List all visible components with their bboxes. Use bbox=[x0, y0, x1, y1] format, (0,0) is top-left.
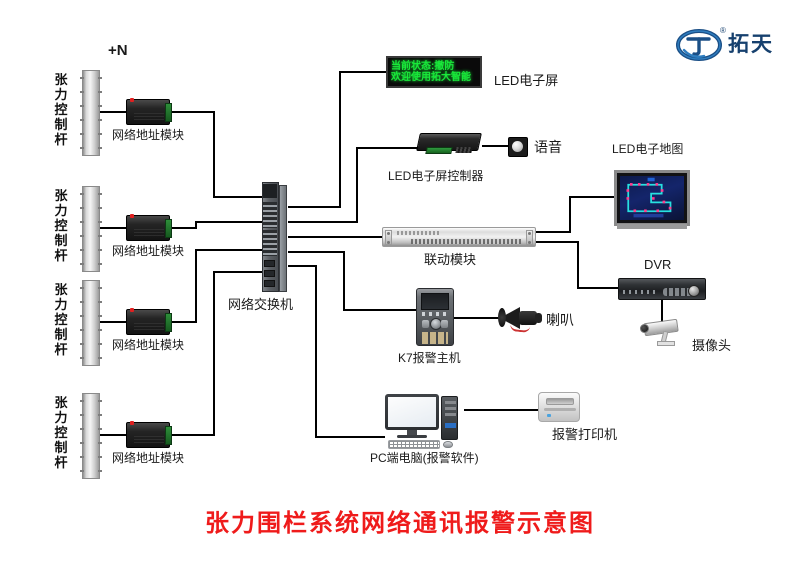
alarm-keypad-icon bbox=[416, 288, 454, 346]
dvr-icon bbox=[618, 278, 706, 300]
led-line-1: 当前状态:撤防 bbox=[391, 61, 454, 72]
pole-label-1: 张力控制杆 bbox=[54, 72, 68, 147]
diagram-canvas: ® 拓天 +N 张力控制杆 网络地址模块 张力控制杆 网络地址模块 bbox=[0, 0, 800, 579]
module-label-1: 网络地址模块 bbox=[112, 129, 184, 143]
horn-speaker-icon bbox=[500, 305, 546, 331]
module-led-icon bbox=[130, 421, 134, 425]
module-face bbox=[134, 229, 164, 236]
module-terminal-icon bbox=[165, 313, 172, 332]
led-line-2: 欢迎使用拓大智能 bbox=[391, 72, 471, 83]
alarm-host-label: K7报警主机 bbox=[398, 352, 461, 366]
horn-label: 喇叭 bbox=[546, 312, 574, 328]
module-terminal-icon bbox=[165, 426, 172, 445]
printer-icon bbox=[538, 392, 580, 422]
led-map-icon bbox=[614, 170, 690, 226]
led-controller-icon bbox=[418, 133, 480, 155]
camera-icon bbox=[638, 318, 684, 348]
module-label-2: 网络地址模块 bbox=[112, 245, 184, 259]
led-display-screen: 当前状态:撤防 欢迎使用拓大智能 bbox=[386, 56, 482, 88]
registered-mark: ® bbox=[720, 26, 726, 35]
network-switch-icon bbox=[262, 182, 288, 292]
led-map-graphic bbox=[620, 176, 684, 220]
linkage-module-label: 联动模块 bbox=[424, 253, 476, 268]
module-led-icon bbox=[130, 214, 134, 218]
brand-name: 拓天 bbox=[728, 32, 774, 58]
led-map-label: LED电子地图 bbox=[612, 143, 683, 157]
desktop-computer-icon bbox=[385, 394, 463, 450]
dvr-label: DVR bbox=[644, 258, 671, 273]
pole-label-4: 张力控制杆 bbox=[54, 395, 68, 470]
voice-speaker-icon bbox=[508, 137, 528, 157]
tension-pole-2 bbox=[82, 186, 100, 272]
led-controller-label: LED电子屏控制器 bbox=[388, 170, 483, 184]
module-face bbox=[134, 323, 164, 330]
tension-pole-3 bbox=[82, 280, 100, 366]
module-label-4: 网络地址模块 bbox=[112, 452, 184, 466]
module-face bbox=[134, 436, 164, 443]
network-address-module-4 bbox=[126, 422, 170, 448]
pole-label-3: 张力控制杆 bbox=[54, 282, 68, 357]
printer-label: 报警打印机 bbox=[552, 428, 617, 443]
module-terminal-icon bbox=[165, 103, 172, 122]
camera-label: 摄像头 bbox=[692, 339, 731, 354]
module-face bbox=[134, 113, 164, 120]
pole-label-2: 张力控制杆 bbox=[54, 188, 68, 263]
module-led-icon bbox=[130, 98, 134, 102]
diagram-title: 张力围栏系统网络通讯报警示意图 bbox=[0, 503, 800, 538]
switch-label: 网络交换机 bbox=[228, 298, 293, 313]
led-screen-label: LED电子屏 bbox=[494, 74, 558, 89]
network-address-module-3 bbox=[126, 309, 170, 335]
voice-label: 语音 bbox=[534, 139, 562, 155]
module-led-icon bbox=[130, 308, 134, 312]
linkage-module-icon bbox=[382, 227, 536, 247]
module-terminal-icon bbox=[165, 219, 172, 238]
brand-logo: ® 拓天 bbox=[676, 28, 796, 68]
tension-pole-1 bbox=[82, 70, 100, 156]
module-label-3: 网络地址模块 bbox=[112, 339, 184, 353]
plus-n-label: +N bbox=[108, 42, 128, 59]
network-address-module-1 bbox=[126, 99, 170, 125]
tension-pole-4 bbox=[82, 393, 100, 479]
network-address-module-2 bbox=[126, 215, 170, 241]
tuotian-oval-logo-icon bbox=[676, 28, 722, 62]
pc-label: PC端电脑(报警软件) bbox=[370, 452, 479, 466]
